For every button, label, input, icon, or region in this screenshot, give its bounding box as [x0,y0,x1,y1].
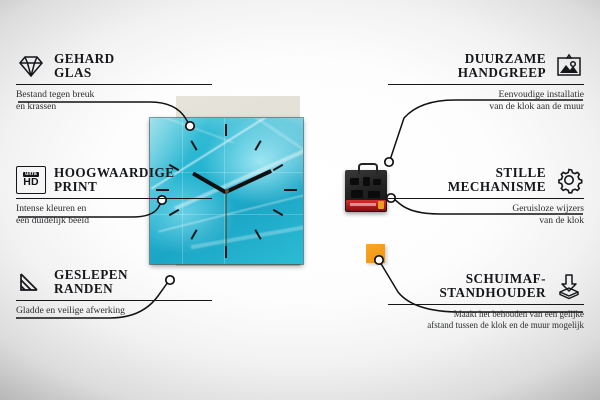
feature-duurzame-handgreep[interactable]: DUURZAME HANDGREEP Eenvoudige installati… [388,52,584,112]
feature-schuimafstandhouder[interactable]: SCHUIMAF- STANDHOUDER Maakt het behouden… [388,272,584,331]
feature-header: ultra HD HOOGWAARDIGE PRINT [16,166,212,195]
feature-description: Bestand tegen breuk en krassen [16,89,212,112]
feature-title: GESLEPEN RANDEN [54,268,128,297]
divider [388,84,584,86]
divider [16,300,212,302]
divider [16,198,212,200]
divider [16,84,212,86]
feature-description: Gladde en veilige afwerking [16,305,212,316]
mechanism-hook [358,163,378,174]
foam-spacer [366,244,385,263]
feature-gehard-glas[interactable]: GEHARD GLAS Bestand tegen breuk en krass… [16,52,212,112]
ultra-hd-icon: ultra HD [16,166,46,194]
gear-icon [554,166,584,194]
feature-header: STILLE MECHANISME [388,166,584,195]
feature-hoogwaardige-print[interactable]: ultra HD HOOGWAARDIGE PRINT Intense kleu… [16,166,212,226]
feature-header: GEHARD GLAS [16,52,212,81]
feature-title: HOOGWAARDIGE PRINT [54,166,174,195]
feature-stille-mechanisme[interactable]: STILLE MECHANISME Geruisloze wijzers van… [388,166,584,226]
feature-title: SCHUIMAF- STANDHOUDER [439,272,546,301]
diagonal-lines-icon [16,268,46,296]
feature-geslepen-randen[interactable]: GESLEPEN RANDEN Gladde en veilige afwerk… [16,268,212,317]
feature-description: Geruisloze wijzers van de klok [388,203,584,226]
divider [388,198,584,200]
feature-header: SCHUIMAF- STANDHOUDER [388,272,584,301]
feature-title: DUURZAME HANDGREEP [458,52,546,81]
infographic-canvas: GEHARD GLAS Bestand tegen breuk en krass… [0,0,600,400]
picture-frame-icon [554,52,584,80]
diamond-icon [16,52,46,80]
battery [346,200,386,211]
press-down-arrow-icon [554,272,584,300]
feature-description: Intense kleuren en een duidelijk beeld [16,203,212,226]
feature-title: GEHARD GLAS [54,52,115,81]
divider [388,304,584,306]
feature-header: DUURZAME HANDGREEP [388,52,584,81]
feature-description: Maakt het behouden van een gelijke afsta… [388,309,584,331]
feature-title: STILLE MECHANISME [448,166,546,195]
feature-description: Eenvoudige installatie van de klok aan d… [388,89,584,112]
feature-header: GESLEPEN RANDEN [16,268,212,297]
